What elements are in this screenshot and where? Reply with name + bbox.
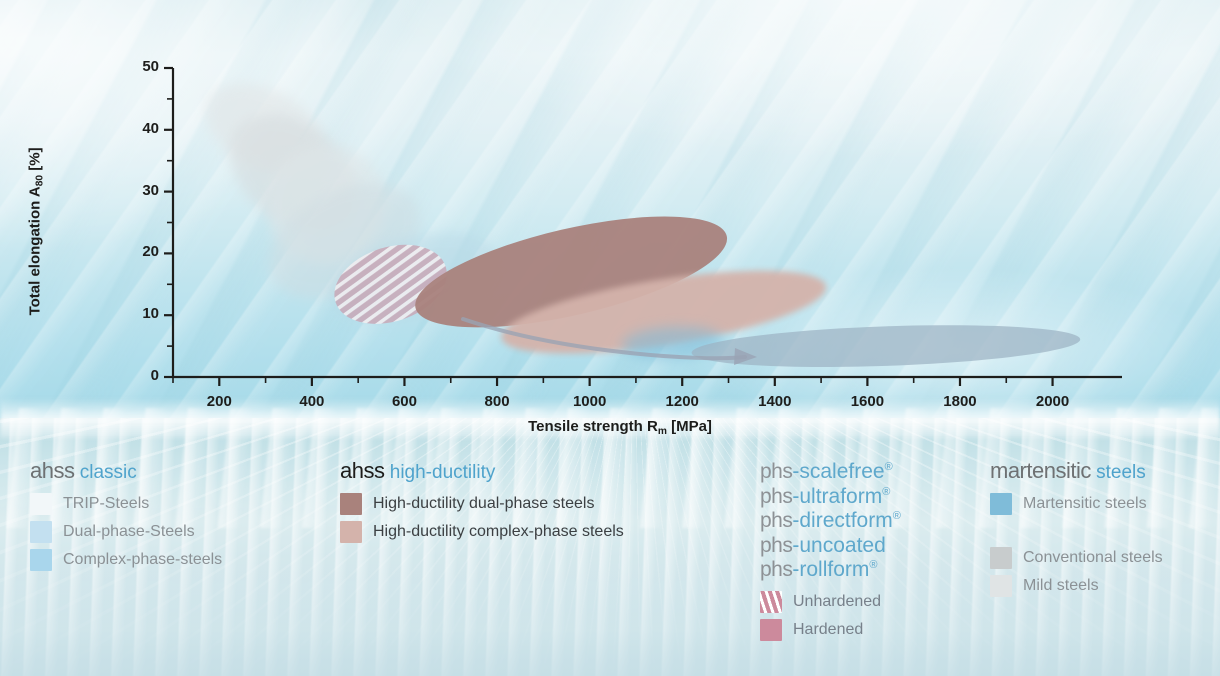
y-axis-tick-label: 0	[111, 367, 159, 384]
x-axis-tick-label: 1600	[832, 393, 902, 410]
y-axis-title: Total elongation A80 [%]	[27, 121, 46, 341]
y-axis-tick-label: 10	[111, 305, 159, 322]
registered-trademark-icon: ®	[882, 486, 890, 498]
legend-phs-suffix: -rollform	[792, 558, 869, 581]
y-axis-tick-label: 40	[111, 120, 159, 137]
legend-group-phs: phs-scalefree®phs-ultraform®phs-directfo…	[760, 460, 901, 647]
plot-area: 50403020100 2004006008001000120014001600…	[0, 0, 1220, 450]
x-axis-tick-label: 1800	[925, 393, 995, 410]
x-axis-tick-label: 400	[277, 393, 347, 410]
legend-item-label: High-ductility complex-phase steels	[373, 523, 624, 541]
legend-item[interactable]: Dual-phase-Steels	[30, 521, 222, 543]
legend-group-martensitic: martensitic steelsMartensitic steelsConv…	[990, 460, 1163, 603]
legend-item-label: High-ductility dual-phase steels	[373, 495, 594, 513]
legend-phs-suffix: -scalefree	[792, 460, 884, 483]
legend-brand-variant: classic	[74, 462, 136, 483]
legend-phs-prefix: phs	[760, 460, 792, 483]
x-axis-title-prefix: Tensile strength R	[528, 418, 658, 435]
legend-phs-suffix: -ultraform	[792, 485, 882, 508]
x-axis-tick-label: 600	[369, 393, 439, 410]
x-axis-tick-label: 800	[462, 393, 532, 410]
legend-item[interactable]: Complex-phase-steels	[30, 549, 222, 571]
legend-item[interactable]: High-ductility complex-phase steels	[340, 521, 624, 543]
legend-group-title: ahss classic	[30, 460, 222, 482]
legend-group-ahss-classic: ahss classicTRIP-SteelsDual-phase-Steels…	[30, 460, 222, 577]
legend-phs-product: phs-ultraform®	[760, 485, 901, 509]
legend-group-title: ahss high-ductility	[340, 460, 624, 482]
legend-phs-suffix: -directform	[792, 509, 892, 532]
legend-spacer	[760, 583, 901, 591]
x-axis-title-subscript: m	[658, 426, 667, 437]
banana-diagram-figure: 50403020100 2004006008001000120014001600…	[0, 0, 1220, 676]
y-axis-title-suffix: [%]	[27, 147, 44, 175]
legend-swatch	[340, 493, 362, 515]
legend-brand-name: martensitic	[990, 458, 1091, 483]
legend-phs-product: phs-uncoated	[760, 534, 901, 558]
x-axis-title: Tensile strength Rm [MPa]	[440, 418, 800, 437]
legend-group-title: martensitic steels	[990, 460, 1163, 482]
legend-swatch	[30, 493, 52, 515]
legend-brand-variant: high-ductility	[384, 462, 495, 483]
x-axis-tick-label: 2000	[1018, 393, 1088, 410]
x-axis-tick-label: 200	[184, 393, 254, 410]
y-axis-tick-label: 30	[111, 182, 159, 199]
legend-swatch	[760, 591, 782, 613]
legend-item[interactable]: TRIP-Steels	[30, 493, 222, 515]
registered-trademark-icon: ®	[869, 559, 877, 571]
chart-axes	[0, 0, 1220, 450]
legend-swatch	[990, 575, 1012, 597]
legend-item-label: Conventional steels	[1023, 549, 1163, 567]
legend-spacer	[990, 521, 1163, 547]
legend-item-label: TRIP-Steels	[63, 495, 149, 513]
legend-swatch	[990, 547, 1012, 569]
legend-phs-product: phs-scalefree®	[760, 460, 901, 484]
legend-swatch	[30, 549, 52, 571]
y-axis-title-subscript: 80	[34, 175, 45, 186]
y-axis-tick-label: 50	[111, 58, 159, 75]
legend-swatch	[760, 619, 782, 641]
legend-item[interactable]: Martensitic steels	[990, 493, 1163, 515]
legend-item[interactable]: Unhardened	[760, 591, 901, 613]
registered-trademark-icon: ®	[893, 510, 901, 522]
legend-item-label: Unhardened	[793, 593, 881, 611]
legend-phs-prefix: phs	[760, 534, 792, 557]
legend-swatch	[340, 521, 362, 543]
legend-item[interactable]: Hardened	[760, 619, 901, 641]
legend-item-label: Martensitic steels	[1023, 495, 1147, 513]
legend-item-label: Hardened	[793, 621, 863, 639]
legend-item[interactable]: High-ductility dual-phase steels	[340, 493, 624, 515]
x-axis-tick-label: 1400	[740, 393, 810, 410]
y-axis-title-prefix: Total elongation A	[27, 186, 44, 315]
legend-group-ahss-high-ductility: ahss high-ductilityHigh-ductility dual-p…	[340, 460, 624, 549]
registered-trademark-icon: ®	[885, 461, 893, 473]
legend-item[interactable]: Conventional steels	[990, 547, 1163, 569]
legend: ahss classicTRIP-SteelsDual-phase-Steels…	[0, 452, 1220, 676]
legend-phs-product: phs-rollform®	[760, 558, 901, 582]
legend-item-label: Complex-phase-steels	[63, 551, 222, 569]
legend-phs-suffix: -uncoated	[792, 534, 885, 557]
legend-swatch	[30, 521, 52, 543]
legend-phs-prefix: phs	[760, 509, 792, 532]
legend-brand-name: ahss	[30, 458, 74, 483]
x-axis-tick-label: 1200	[647, 393, 717, 410]
legend-brand-name: ahss	[340, 458, 384, 483]
legend-phs-prefix: phs	[760, 485, 792, 508]
x-axis-title-suffix: [MPa]	[667, 418, 712, 435]
legend-item-label: Mild steels	[1023, 577, 1099, 595]
legend-brand-variant: steels	[1091, 462, 1146, 483]
legend-item[interactable]: Mild steels	[990, 575, 1163, 597]
legend-phs-prefix: phs	[760, 558, 792, 581]
legend-item-label: Dual-phase-Steels	[63, 523, 195, 541]
y-axis-tick-label: 20	[111, 243, 159, 260]
x-axis-tick-label: 1000	[555, 393, 625, 410]
legend-phs-product: phs-directform®	[760, 509, 901, 533]
legend-swatch	[990, 493, 1012, 515]
